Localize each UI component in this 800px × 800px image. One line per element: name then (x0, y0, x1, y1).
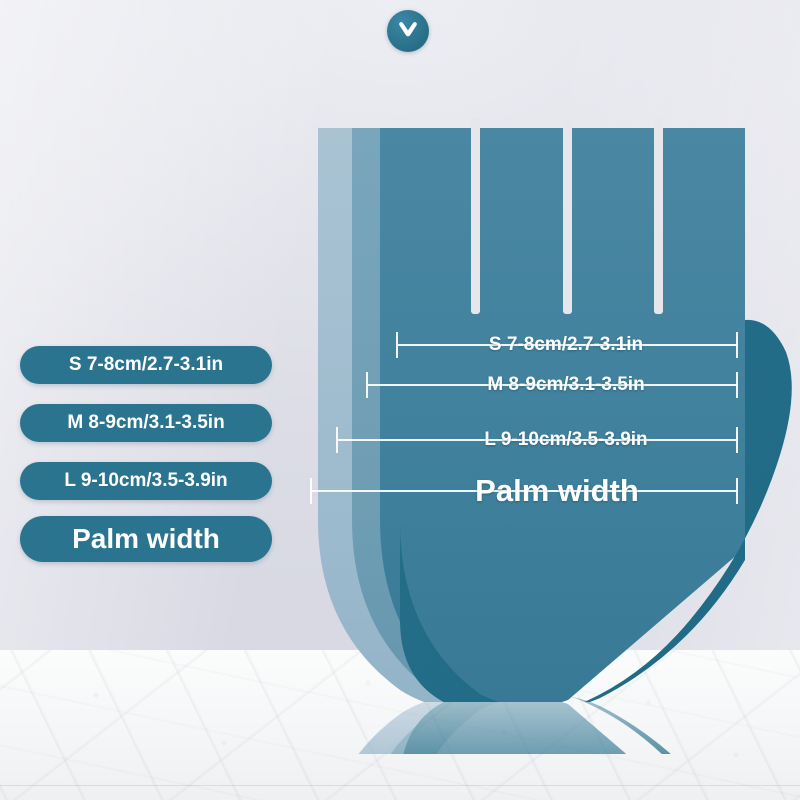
size-pill-m-label: M 8-9cm/3.1-3.5in (67, 412, 224, 434)
size-pill-l[interactable]: L 9-10cm/3.5-3.9in (20, 462, 272, 500)
glove-illustration-group (0, 0, 800, 800)
size-chart-image: S 7-8cm/2.7-3.1in M 8-9cm/3.1-3.5in L 9-… (0, 0, 800, 800)
chevron-down-icon (395, 20, 421, 42)
size-pill-palm-width[interactable]: Palm width (20, 516, 272, 562)
size-pill-s-label: S 7-8cm/2.7-3.1in (69, 354, 223, 376)
teal-glove-illustration (0, 0, 800, 800)
size-pill-l-label: L 9-10cm/3.5-3.9in (64, 470, 227, 492)
size-pill-m[interactable]: M 8-9cm/3.1-3.5in (20, 404, 272, 442)
chevron-down-badge[interactable] (387, 10, 429, 52)
size-pill-s[interactable]: S 7-8cm/2.7-3.1in (20, 346, 272, 384)
size-pill-palm-width-label: Palm width (72, 523, 220, 555)
